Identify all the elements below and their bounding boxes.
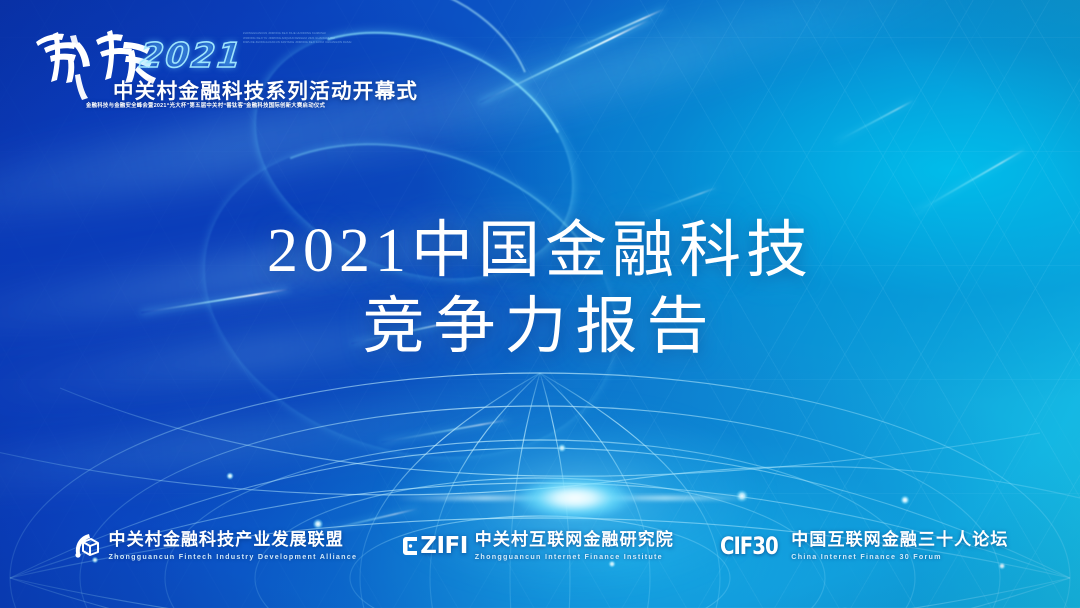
- event-logo-sub-line: 金融科技与金融安全峰会暨2021“光大杯”第五届中关村“番钛客”金融科技国际创新…: [86, 101, 325, 109]
- poster-title-line-2: 竞争力报告: [0, 290, 1080, 366]
- partner-alliance-cn: 中关村金融科技产业发展联盟: [109, 531, 358, 550]
- poster-title-line-1: 2021中国金融科技: [0, 214, 1080, 290]
- cif30-letters: CIF30: [720, 534, 778, 558]
- poster-title: 2021中国金融科技 竞争力报告: [0, 214, 1080, 365]
- partner-forum-cn: 中国互联网金融三十人论坛: [791, 531, 1008, 550]
- partner-logo-forum: CIF30 中国互联网金融三十人论坛 China Internet Financ…: [720, 531, 1009, 561]
- poster-canvas: 2021 ZHONGGUANCUN JINRONG KEJI XILIE HUO…: [0, 0, 1080, 608]
- partner-logo-institute: ZIFI 中关村互联网金融研究院 Zhongguancun Internet F…: [403, 531, 674, 561]
- partner-forum-en: China Internet Finance 30 Forum: [791, 552, 1008, 561]
- cube-ribbon-icon: [72, 531, 102, 561]
- event-logo-pinyin: ZHONGGUANCUN JINRONG KEJI XILIE HUODONG …: [243, 32, 348, 46]
- event-logo-year: 2021: [138, 36, 245, 76]
- event-logo-main-line: 中关村金融科技系列活动开幕式: [113, 74, 418, 104]
- zifi-letters: ZIFI: [420, 535, 468, 558]
- zifi-wordmark-icon: ZIFI: [403, 535, 468, 558]
- partner-alliance-en: Zhongguancun Fintech Industry Developmen…: [109, 552, 358, 561]
- partner-institute-cn: 中关村互联网金融研究院: [475, 531, 674, 550]
- pinyin-line-3: DIWUJIE ZHONGGUANCUN FANTAIKE JINRONG KE…: [243, 41, 348, 46]
- partner-logo-alliance: 中关村金融科技产业发展联盟 Zhongguancun Fintech Indus…: [72, 531, 358, 561]
- partner-logo-bar: 中关村金融科技产业发展联盟 Zhongguancun Fintech Indus…: [0, 524, 1080, 568]
- cif30-wordmark-icon: CIF30: [720, 534, 790, 558]
- event-logo: 2021 ZHONGGUANCUN JINRONG KEJI XILIE HUO…: [18, 16, 348, 104]
- partner-institute-en: Zhongguancun Internet Finance Institute: [475, 552, 674, 561]
